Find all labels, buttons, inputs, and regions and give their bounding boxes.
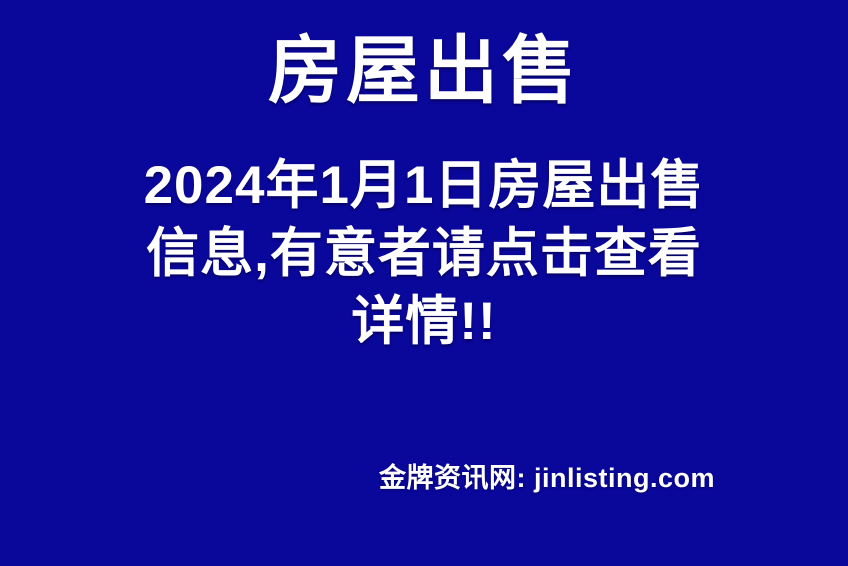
poster-body-copy: 2024年1月1日房屋出售 信息,有意者请点击查看 详情!! bbox=[0, 152, 848, 356]
poster-headline: 房屋出售 bbox=[0, 28, 848, 114]
poster-body-line-2: 信息,有意者请点击查看 bbox=[0, 220, 848, 288]
poster-body-line-3: 详情!! bbox=[0, 288, 848, 356]
poster-body-line-1: 2024年1月1日房屋出售 bbox=[0, 152, 848, 220]
advertisement-poster: 房屋出售 2024年1月1日房屋出售 信息,有意者请点击查看 详情!! 金牌资讯… bbox=[0, 0, 848, 566]
site-watermark: 金牌资讯网: jinlisting.com bbox=[0, 460, 848, 496]
